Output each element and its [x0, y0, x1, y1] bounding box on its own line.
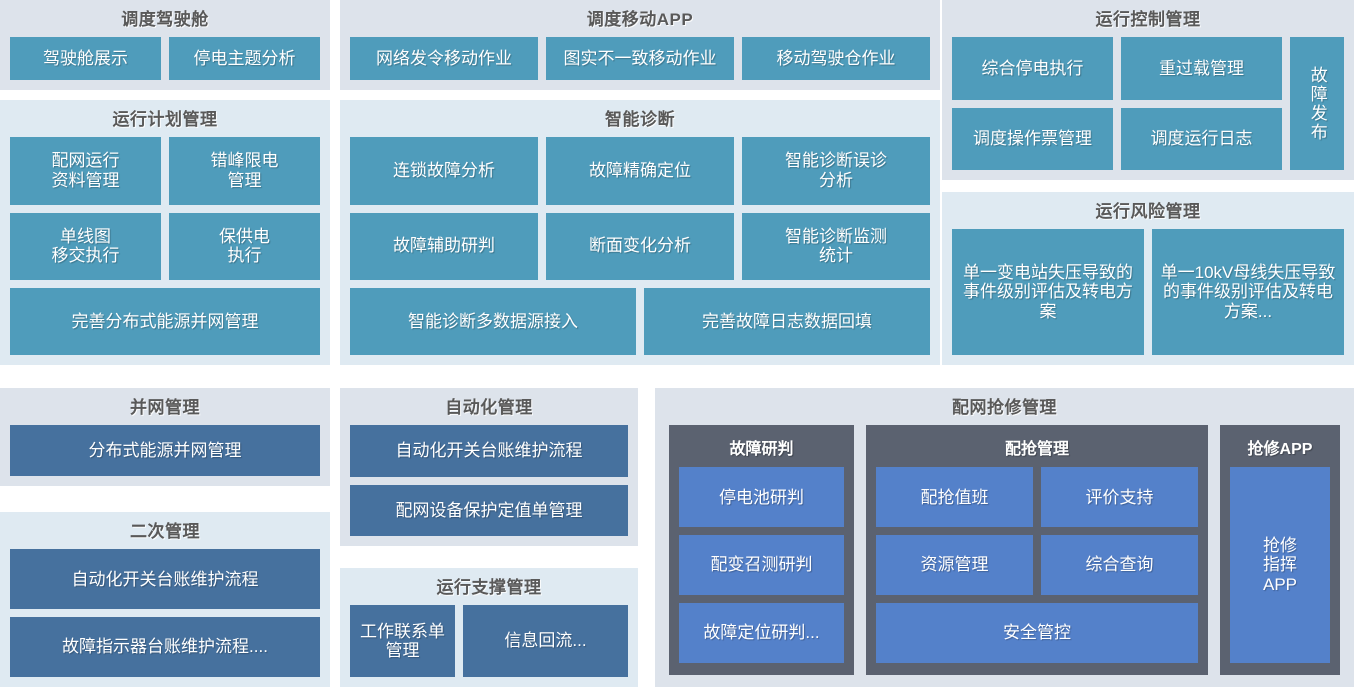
- tile-fault-indicator-ledger-flow[interactable]: 故障指示器台账维护流程....: [10, 617, 320, 677]
- panel-title-operation-plan: 运行计划管理: [10, 110, 320, 130]
- tile-multi-datasource-access[interactable]: 智能诊断多数据源接入: [350, 288, 636, 355]
- tile-group: 配抢值班 评价支持 资源管理 综合查询 安全管控: [876, 467, 1198, 663]
- tile-subgroup: 综合停电执行 重过载管理 调度操作票管理 调度运行日志: [952, 37, 1282, 170]
- tile-protection-setting-sheet-management[interactable]: 配网设备保护定值单管理: [350, 485, 628, 536]
- tile-auto-switch-ledger-maintenance[interactable]: 自动化开关台账维护流程: [350, 425, 628, 476]
- tile-row: 配网运行资料管理 错峰限电管理: [10, 137, 320, 204]
- tile-comprehensive-query[interactable]: 综合查询: [1041, 535, 1198, 595]
- tile-row: 自动化开关台账维护流程: [10, 549, 320, 609]
- tile-single-line-diagram-handover[interactable]: 单线图移交执行: [10, 213, 161, 280]
- tile-group: 停电池研判 配变召测研判 故障定位研判...: [679, 467, 844, 663]
- tile-fault-release[interactable]: 故障发布: [1290, 37, 1344, 170]
- tile-mobile-cockpit-work[interactable]: 移动驾驶仓作业: [742, 37, 930, 80]
- tile-section-change-analysis[interactable]: 断面变化分析: [546, 213, 734, 280]
- tile-evaluation-support[interactable]: 评价支持: [1041, 467, 1198, 527]
- diagram-canvas: 调度驾驶舱 驾驶舱展示 停电主题分析 调度移动APP 网络发令移动作业 图实不一…: [0, 0, 1354, 687]
- tile-outage-topic-analysis[interactable]: 停电主题分析: [169, 37, 320, 80]
- panel-title-distribution-repair-management: 配网抢修管理: [665, 398, 1344, 418]
- panel-title-secondary-management: 二次管理: [10, 522, 320, 542]
- tile-row: 抢修指挥APP: [1230, 467, 1330, 663]
- tile-cockpit-display[interactable]: 驾驶舱展示: [10, 37, 161, 80]
- tile-group: 驾驶舱展示 停电主题分析: [10, 37, 320, 80]
- repair-groups: 故障研判 停电池研判 配变召测研判 故障定位研判... 配抢管理: [665, 425, 1344, 677]
- panel-title-smart-diagnosis: 智能诊断: [350, 110, 930, 130]
- tile-repair-command-app[interactable]: 抢修指挥APP: [1230, 467, 1330, 663]
- group-title-fault-judgment: 故障研判: [679, 435, 844, 459]
- tile-auto-switch-ledger-flow[interactable]: 自动化开关台账维护流程: [10, 549, 320, 609]
- panel-smart-diagnosis: 智能诊断 连锁故障分析 故障精确定位 智能诊断误诊分析 故障辅助研判 断面变化分…: [340, 100, 940, 365]
- tile-diagnosis-monitoring-stats[interactable]: 智能诊断监测统计: [742, 213, 930, 280]
- tile-row: 智能诊断多数据源接入 完善故障日志数据回填: [350, 288, 930, 355]
- tile-fault-assist-judgment[interactable]: 故障辅助研判: [350, 213, 538, 280]
- tile-distributed-energy-grid-management[interactable]: 分布式能源并网管理: [10, 425, 320, 476]
- tile-row: 工作联系单管理 信息回流...: [350, 605, 628, 677]
- tile-guaranteed-power-exec[interactable]: 保供电执行: [169, 213, 320, 280]
- panel-operation-support: 运行支撑管理 工作联系单管理 信息回流...: [340, 568, 638, 687]
- tile-network-dispatch-mobile[interactable]: 网络发令移动作业: [350, 37, 538, 80]
- panel-operation-plan: 运行计划管理 配网运行资料管理 错峰限电管理 单线图移交执行 保供电执行 完善分…: [0, 100, 330, 365]
- tile-row: 资源管理 综合查询: [876, 535, 1198, 595]
- tile-improve-distributed-energy-grid[interactable]: 完善分布式能源并网管理: [10, 288, 320, 355]
- tile-row: 连锁故障分析 故障精确定位 智能诊断误诊分析: [350, 137, 930, 204]
- panel-title-operation-support: 运行支撑管理: [350, 578, 628, 598]
- panel-title-operation-risk: 运行风险管理: [952, 202, 1344, 222]
- tile-substation-voltage-loss-plan[interactable]: 单一变电站失压导致的事件级别评估及转电方案: [952, 229, 1144, 355]
- tile-row: 安全管控: [876, 603, 1198, 663]
- panel-distribution-repair-management: 配网抢修管理 故障研判 停电池研判 配变召测研判 故障定位研判... 配: [655, 388, 1354, 687]
- tile-outage-cell-judgment[interactable]: 停电池研判: [679, 467, 844, 527]
- tile-distribution-operation-data[interactable]: 配网运行资料管理: [10, 137, 161, 204]
- tile-group: 抢修指挥APP: [1230, 467, 1330, 663]
- tile-group: 配网运行资料管理 错峰限电管理 单线图移交执行 保供电执行 完善分布式能源并网管…: [10, 137, 320, 355]
- panel-cockpit: 调度驾驶舱 驾驶舱展示 停电主题分析: [0, 0, 330, 90]
- group-repair-dispatch-management: 配抢管理 配抢值班 评价支持 资源管理 综合查询 安全管控: [866, 425, 1208, 675]
- panel-operation-risk: 运行风险管理 单一变电站失压导致的事件级别评估及转电方案 单一10kV母线失压导…: [942, 192, 1354, 365]
- tile-resource-management[interactable]: 资源管理: [876, 535, 1033, 595]
- tile-row: 配抢值班 评价支持: [876, 467, 1198, 527]
- tile-comprehensive-outage-exec[interactable]: 综合停电执行: [952, 37, 1113, 99]
- tile-information-backflow[interactable]: 信息回流...: [463, 605, 628, 677]
- tile-row: 单线图移交执行 保供电执行: [10, 213, 320, 280]
- group-fault-judgment: 故障研判 停电池研判 配变召测研判 故障定位研判...: [669, 425, 854, 675]
- tile-fault-location-judgment[interactable]: 故障定位研判...: [679, 603, 844, 663]
- tile-peak-shifting-power-limit[interactable]: 错峰限电管理: [169, 137, 320, 204]
- tile-overload-management[interactable]: 重过载管理: [1121, 37, 1282, 99]
- tile-10kv-busbar-voltage-loss-plan[interactable]: 单一10kV母线失压导致的事件级别评估及转电方案...: [1152, 229, 1344, 355]
- tile-row: 故障辅助研判 断面变化分析 智能诊断监测统计: [350, 213, 930, 280]
- tile-row: 故障定位研判...: [679, 603, 844, 663]
- tile-safety-control[interactable]: 安全管控: [876, 603, 1198, 663]
- tile-group: 自动化开关台账维护流程 配网设备保护定值单管理: [350, 425, 628, 536]
- tile-row: 故障指示器台账维护流程....: [10, 617, 320, 677]
- tile-transformer-polling-judgment[interactable]: 配变召测研判: [679, 535, 844, 595]
- tile-group: 网络发令移动作业 图实不一致移动作业 移动驾驶仓作业: [350, 37, 930, 80]
- panel-title-operation-control: 运行控制管理: [952, 10, 1344, 30]
- tile-repair-duty[interactable]: 配抢值班: [876, 467, 1033, 527]
- tile-group: 自动化开关台账维护流程 故障指示器台账维护流程....: [10, 549, 320, 677]
- tile-row: 配变召测研判: [679, 535, 844, 595]
- group-title-repair-dispatch-management: 配抢管理: [876, 435, 1198, 459]
- tile-work-contact-sheet-management[interactable]: 工作联系单管理: [350, 605, 455, 677]
- panel-title-mobile-app: 调度移动APP: [350, 10, 930, 30]
- tile-group: 工作联系单管理 信息回流...: [350, 605, 628, 677]
- tile-group: 分布式能源并网管理: [10, 425, 320, 476]
- panel-operation-control: 运行控制管理 综合停电执行 重过载管理 调度操作票管理 调度运行日志 故障发布: [942, 0, 1354, 180]
- tile-improve-fault-log-backfill[interactable]: 完善故障日志数据回填: [644, 288, 930, 355]
- tile-row: 网络发令移动作业 图实不一致移动作业 移动驾驶仓作业: [350, 37, 930, 80]
- tile-row: 完善分布式能源并网管理: [10, 288, 320, 355]
- tile-row: 调度操作票管理 调度运行日志: [952, 108, 1282, 170]
- panel-grid-connection: 并网管理 分布式能源并网管理: [0, 388, 330, 486]
- tile-row: 综合停电执行 重过载管理: [952, 37, 1282, 99]
- tile-row: 分布式能源并网管理: [10, 425, 320, 476]
- panel-title-cockpit: 调度驾驶舱: [10, 10, 320, 30]
- tile-row: 驾驶舱展示 停电主题分析: [10, 37, 320, 80]
- panel-secondary-management: 二次管理 自动化开关台账维护流程 故障指示器台账维护流程....: [0, 512, 330, 687]
- tile-group: 单一变电站失压导致的事件级别评估及转电方案 单一10kV母线失压导致的事件级别评…: [952, 229, 1344, 355]
- panel-automation-management: 自动化管理 自动化开关台账维护流程 配网设备保护定值单管理: [340, 388, 638, 546]
- tile-map-mismatch-mobile[interactable]: 图实不一致移动作业: [546, 37, 734, 80]
- tile-row: 配网设备保护定值单管理: [350, 485, 628, 536]
- tile-dispatch-operation-log[interactable]: 调度运行日志: [1121, 108, 1282, 170]
- tile-row: 自动化开关台账维护流程: [350, 425, 628, 476]
- group-title-repair-app: 抢修APP: [1230, 435, 1330, 459]
- group-repair-app: 抢修APP 抢修指挥APP: [1220, 425, 1340, 675]
- tile-misdiagnosis-analysis[interactable]: 智能诊断误诊分析: [742, 137, 930, 204]
- tile-row: 单一变电站失压导致的事件级别评估及转电方案 单一10kV母线失压导致的事件级别评…: [952, 229, 1344, 355]
- tile-group: 综合停电执行 重过载管理 调度操作票管理 调度运行日志 故障发布: [952, 37, 1344, 170]
- tile-group: 连锁故障分析 故障精确定位 智能诊断误诊分析 故障辅助研判 断面变化分析 智能诊…: [350, 137, 930, 355]
- tile-row: 停电池研判: [679, 467, 844, 527]
- panel-title-grid-connection: 并网管理: [10, 398, 320, 418]
- panel-mobile-app: 调度移动APP 网络发令移动作业 图实不一致移动作业 移动驾驶仓作业: [340, 0, 940, 90]
- panel-title-automation-management: 自动化管理: [350, 398, 628, 418]
- tile-precise-fault-location[interactable]: 故障精确定位: [546, 137, 734, 204]
- tile-cascading-fault-analysis[interactable]: 连锁故障分析: [350, 137, 538, 204]
- tile-dispatch-operation-ticket[interactable]: 调度操作票管理: [952, 108, 1113, 170]
